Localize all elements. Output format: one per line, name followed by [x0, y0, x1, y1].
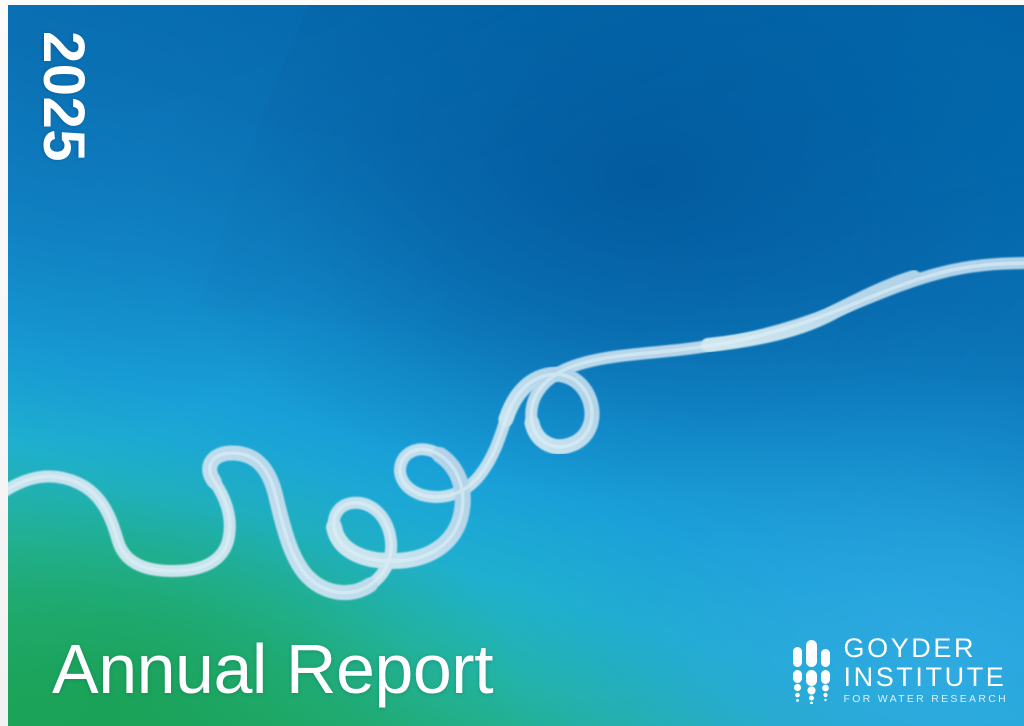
annual-report-cover: 2025 Annual Report [0, 0, 1024, 726]
logo-line-tagline: FOR WATER RESEARCH [844, 694, 1009, 705]
goyder-institute-logo: GOYDER INSTITUTE FOR WATER RESEARCH [790, 635, 1009, 705]
background-facet-texture [8, 5, 1024, 726]
logo-wordmark: GOYDER INSTITUTE FOR WATER RESEARCH [844, 635, 1009, 705]
logo-line-institute: INSTITUTE [844, 664, 1007, 691]
cover-artwork: 2025 Annual Report [8, 5, 1024, 726]
cover-year: 2025 [34, 31, 92, 162]
logo-line-goyder: GOYDER [844, 635, 977, 662]
water-droplet-columns-icon [790, 638, 834, 704]
page-title: Annual Report [52, 634, 493, 704]
